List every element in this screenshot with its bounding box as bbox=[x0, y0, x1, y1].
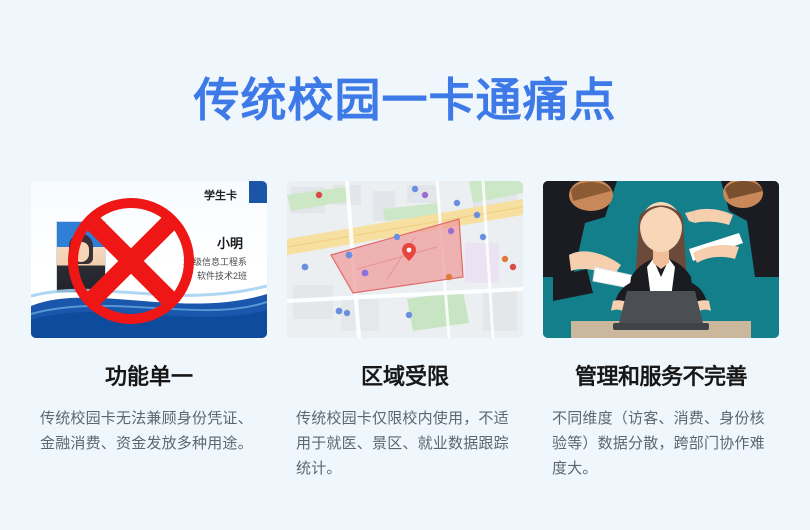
column-heading: 功能单一 bbox=[105, 364, 193, 390]
student-id-card-image: 学生卡 小明 23级信息工程系 软件技术2班 bbox=[31, 181, 267, 338]
overwhelmed-worker-image bbox=[543, 181, 779, 338]
page-title: 传统校园一卡通痛点 bbox=[0, 72, 810, 128]
column-heading: 管理和服务不完善 bbox=[575, 364, 747, 390]
column-body-text: 传统校园卡仅限校内使用，不适用于就医、景区、就业数据跟踪统计。 bbox=[296, 406, 514, 481]
campus-map-image bbox=[287, 181, 523, 338]
pain-point-column-management: 管理和服务不完善 不同维度（访客、消费、身份核验等）数据分散，跨部门协作难度大。 bbox=[543, 181, 779, 481]
id-card-type-label: 学生卡 bbox=[204, 187, 237, 203]
id-card-student-name: 小明 bbox=[217, 233, 243, 252]
id-card-corner-accent bbox=[249, 181, 267, 203]
pain-point-columns: 学生卡 小明 23级信息工程系 软件技术2班 功能单一 传统校园卡无法兼顾身份凭… bbox=[0, 181, 810, 481]
prohibition-x-icon bbox=[65, 195, 197, 327]
map-graphic bbox=[287, 181, 523, 338]
pain-point-column-area-limited: 区域受限 传统校园卡仅限校内使用，不适用于就医、景区、就业数据跟踪统计。 bbox=[287, 181, 523, 481]
illustration-graphic bbox=[543, 181, 779, 338]
column-body-text: 不同维度（访客、消费、身份核验等）数据分散，跨部门协作难度大。 bbox=[552, 406, 770, 481]
column-body-text: 传统校园卡无法兼顾身份凭证、金融消费、资金发放多种用途。 bbox=[40, 406, 258, 456]
pain-point-column-feature-limited: 学生卡 小明 23级信息工程系 软件技术2班 功能单一 传统校园卡无法兼顾身份凭… bbox=[31, 181, 267, 481]
column-heading: 区域受限 bbox=[361, 364, 449, 390]
